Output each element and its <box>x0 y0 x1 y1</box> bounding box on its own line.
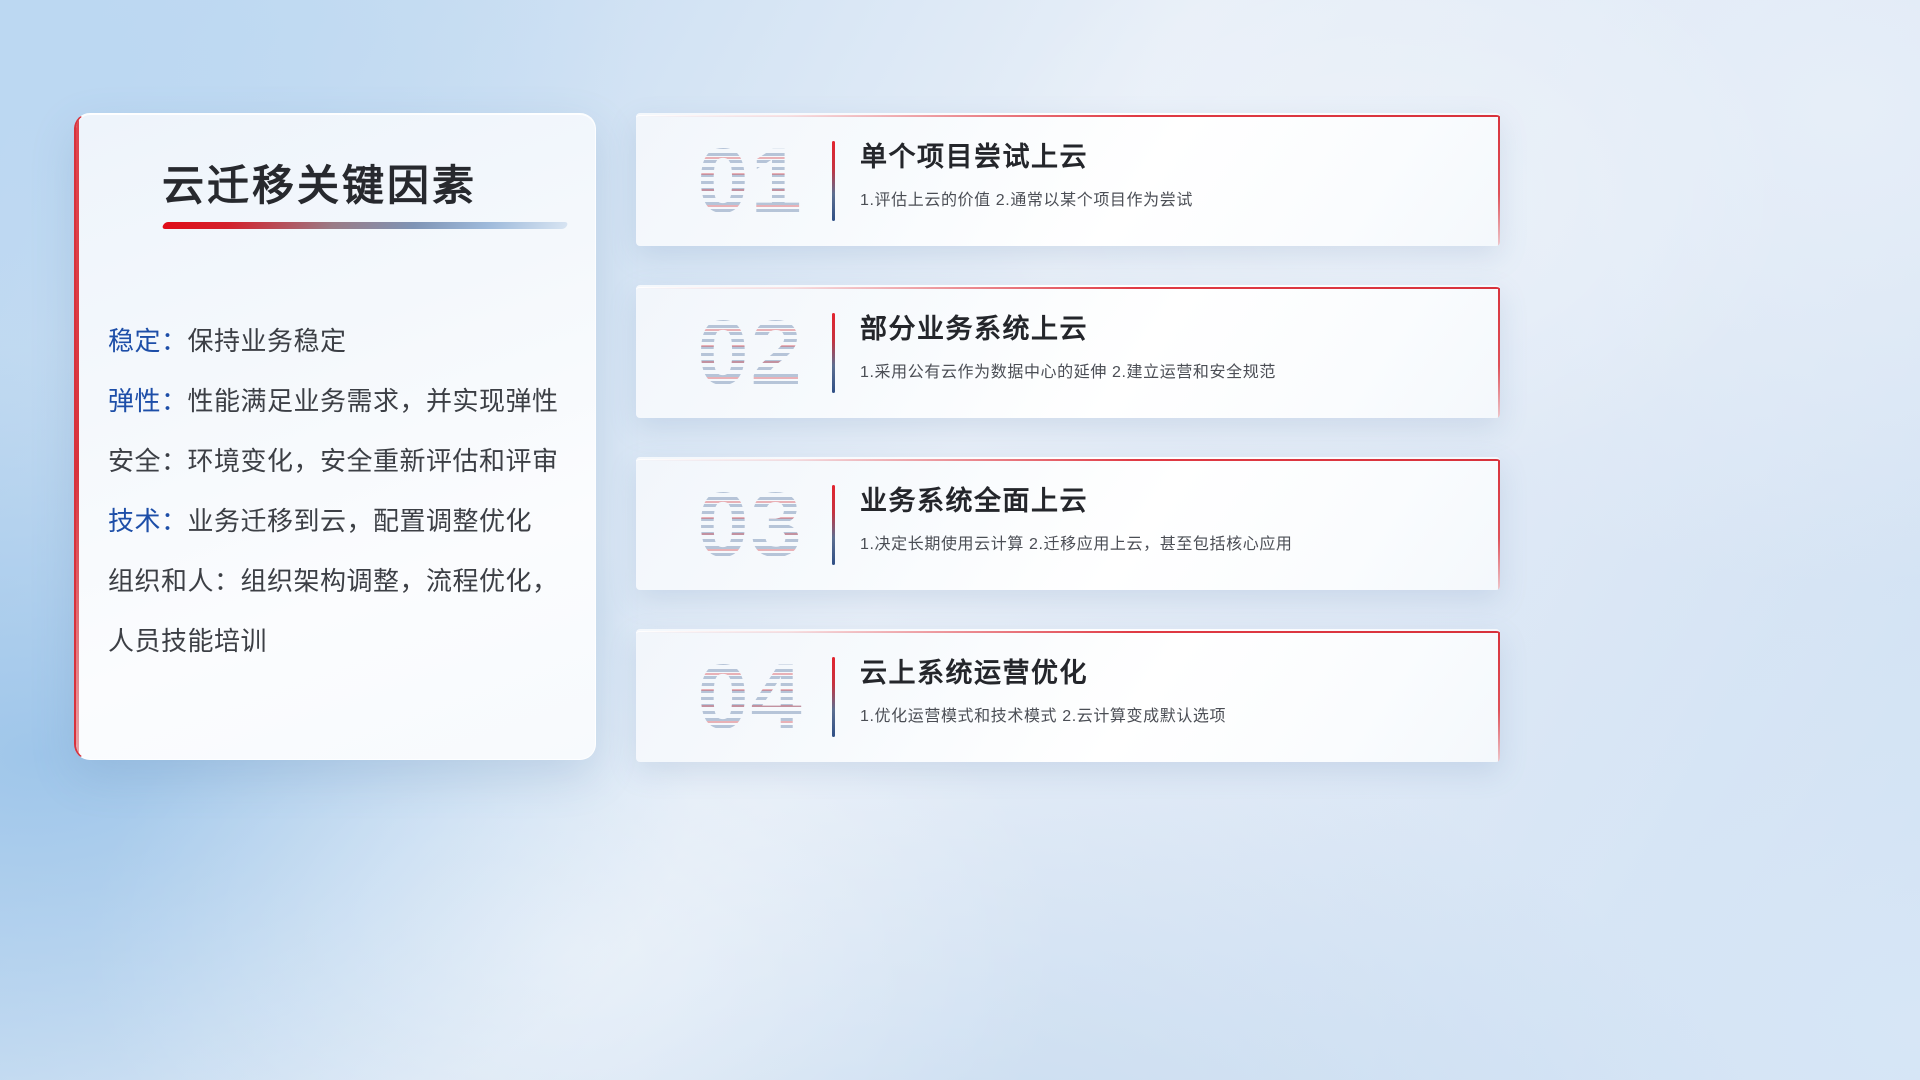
key-factor-item: 组织和人：组织架构调整，流程优化，人员技能培训 <box>76 551 595 671</box>
key-factor-value: 性能满足业务需求，并实现弹性 <box>188 386 559 416</box>
key-factor-value: 环境变化，安全重新评估和评审 <box>188 446 559 476</box>
stage-card-body: 业务系统全面上云1.决定长期使用云计算 2.迁移应用上云，甚至包括核心应用 <box>860 481 1464 557</box>
stage-accent-bar <box>832 485 835 565</box>
stage-title: 单个项目尝试上云 <box>860 137 1464 177</box>
stage-number-watermark-tint: 01 <box>658 125 843 237</box>
key-factors-panel: 云迁移关键因素 稳定：保持业务稳定弹性：性能满足业务需求，并实现弹性安全：环境变… <box>74 113 596 760</box>
key-factor-label: 弹性： <box>108 386 188 416</box>
stage-title: 部分业务系统上云 <box>860 309 1464 349</box>
stage-card[interactable]: 0303业务系统全面上云1.决定长期使用云计算 2.迁移应用上云，甚至包括核心应… <box>636 457 1500 590</box>
stage-card-list: 0101单个项目尝试上云1.评估上云的价值 2.通常以某个项目作为尝试0202部… <box>636 113 1500 801</box>
stage-description: 1.采用公有云作为数据中心的延伸 2.建立运营和安全规范 <box>860 361 1464 385</box>
stage-card-body: 部分业务系统上云1.采用公有云作为数据中心的延伸 2.建立运营和安全规范 <box>860 309 1464 385</box>
title-underline-gradient <box>161 222 568 229</box>
page-title: 云迁移关键因素 <box>162 152 572 213</box>
key-factors-list: 稳定：保持业务稳定弹性：性能满足业务需求，并实现弹性安全：环境变化，安全重新评估… <box>76 311 595 671</box>
key-factor-item: 弹性：性能满足业务需求，并实现弹性 <box>76 371 595 431</box>
stage-description: 1.决定长期使用云计算 2.迁移应用上云，甚至包括核心应用 <box>860 533 1464 557</box>
key-factor-label: 技术： <box>108 506 188 536</box>
key-factor-value: 业务迁移到云，配置调整优化 <box>188 506 533 536</box>
key-factor-value: 保持业务稳定 <box>188 326 347 356</box>
stage-number-watermark-tint: 04 <box>658 641 843 753</box>
key-factor-item: 稳定：保持业务稳定 <box>76 311 595 371</box>
stage-description: 1.优化运营模式和技术模式 2.云计算变成默认选项 <box>860 705 1464 729</box>
stage-card[interactable]: 0101单个项目尝试上云1.评估上云的价值 2.通常以某个项目作为尝试 <box>636 113 1500 246</box>
stage-accent-bar <box>832 313 835 393</box>
key-factor-label: 稳定： <box>108 326 188 356</box>
stage-card[interactable]: 0404云上系统运营优化1.优化运营模式和技术模式 2.云计算变成默认选项 <box>636 629 1500 762</box>
stage-accent-bar <box>832 657 835 737</box>
stage-accent-bar <box>832 141 835 221</box>
stage-title: 云上系统运营优化 <box>860 653 1464 693</box>
stage-number-watermark-tint: 02 <box>658 297 843 409</box>
key-factor-label: 组织和人： <box>108 566 241 596</box>
key-factor-label: 安全： <box>108 446 188 476</box>
stage-number-watermark-tint: 03 <box>658 469 843 581</box>
slide-stage: 云迁移关键因素 稳定：保持业务稳定弹性：性能满足业务需求，并实现弹性安全：环境变… <box>0 0 1920 1080</box>
stage-card-body: 单个项目尝试上云1.评估上云的价值 2.通常以某个项目作为尝试 <box>860 137 1464 213</box>
stage-card[interactable]: 0202部分业务系统上云1.采用公有云作为数据中心的延伸 2.建立运营和安全规范 <box>636 285 1500 418</box>
stage-description: 1.评估上云的价值 2.通常以某个项目作为尝试 <box>860 189 1464 213</box>
stage-card-body: 云上系统运营优化1.优化运营模式和技术模式 2.云计算变成默认选项 <box>860 653 1464 729</box>
key-factor-item: 安全：环境变化，安全重新评估和评审 <box>76 431 595 491</box>
key-factor-item: 技术：业务迁移到云，配置调整优化 <box>76 491 595 551</box>
stage-title: 业务系统全面上云 <box>860 481 1464 521</box>
